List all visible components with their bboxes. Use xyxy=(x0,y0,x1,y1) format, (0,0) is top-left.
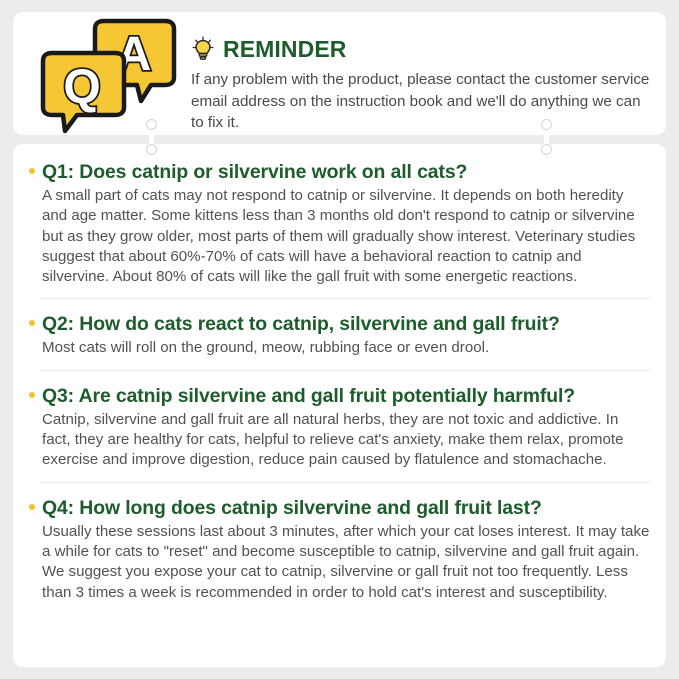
faq-item: Q4: How long does catnip silvervine and … xyxy=(29,496,650,603)
bullet-dot-icon xyxy=(29,320,35,326)
faq-divider xyxy=(40,482,650,483)
card-connector-pin-left xyxy=(146,119,157,155)
faq-item: Q2: How do cats react to catnip, silverv… xyxy=(29,312,650,370)
faq-question-text: Q4: How long does catnip silvervine and … xyxy=(42,496,542,520)
faq-question: Q3: Are catnip silvervine and gall fruit… xyxy=(29,384,650,408)
card-connector-pin-right xyxy=(541,119,552,155)
faq-question-text: Q3: Are catnip silvervine and gall fruit… xyxy=(42,384,575,408)
faq-question: Q4: How long does catnip silvervine and … xyxy=(29,496,650,520)
lightbulb-icon xyxy=(191,36,215,62)
faq-card: Q1: Does catnip or silvervine work on al… xyxy=(13,144,666,667)
reminder-text: If any problem with the product, please … xyxy=(191,69,652,134)
bullet-dot-icon xyxy=(29,168,35,174)
faq-item: Q1: Does catnip or silvervine work on al… xyxy=(29,160,650,299)
faq-answer: Usually these sessions last about 3 minu… xyxy=(42,522,650,603)
faq-answer: Catnip, silvervine and gall fruit are al… xyxy=(42,410,650,471)
faq-answer: Most cats will roll on the ground, meow,… xyxy=(42,338,650,358)
reminder-body: REMINDER If any problem with the product… xyxy=(191,34,652,134)
connector-pin-bottom xyxy=(146,144,157,155)
faq-question-text: Q1: Does catnip or silvervine work on al… xyxy=(42,160,467,184)
reminder-title: REMINDER xyxy=(223,37,346,61)
faq-page: A Q xyxy=(0,0,679,679)
svg-text:Q: Q xyxy=(63,61,100,114)
reminder-heading: REMINDER xyxy=(191,34,652,64)
faq-item: Q3: Are catnip silvervine and gall fruit… xyxy=(29,384,650,483)
qa-speech-bubbles-icon: A Q xyxy=(33,15,183,135)
bullet-dot-icon xyxy=(29,392,35,398)
connector-pin-top xyxy=(146,119,157,130)
faq-divider xyxy=(40,298,650,299)
faq-question: Q1: Does catnip or silvervine work on al… xyxy=(29,160,650,184)
connector-pin-top xyxy=(541,119,552,130)
reminder-card: A Q xyxy=(13,12,666,135)
faq-question-text: Q2: How do cats react to catnip, silverv… xyxy=(42,312,560,336)
faq-question: Q2: How do cats react to catnip, silverv… xyxy=(29,312,650,336)
faq-divider xyxy=(40,370,650,371)
bullet-dot-icon xyxy=(29,504,35,510)
connector-pin-bottom xyxy=(541,144,552,155)
faq-answer: A small part of cats may not respond to … xyxy=(42,186,650,287)
